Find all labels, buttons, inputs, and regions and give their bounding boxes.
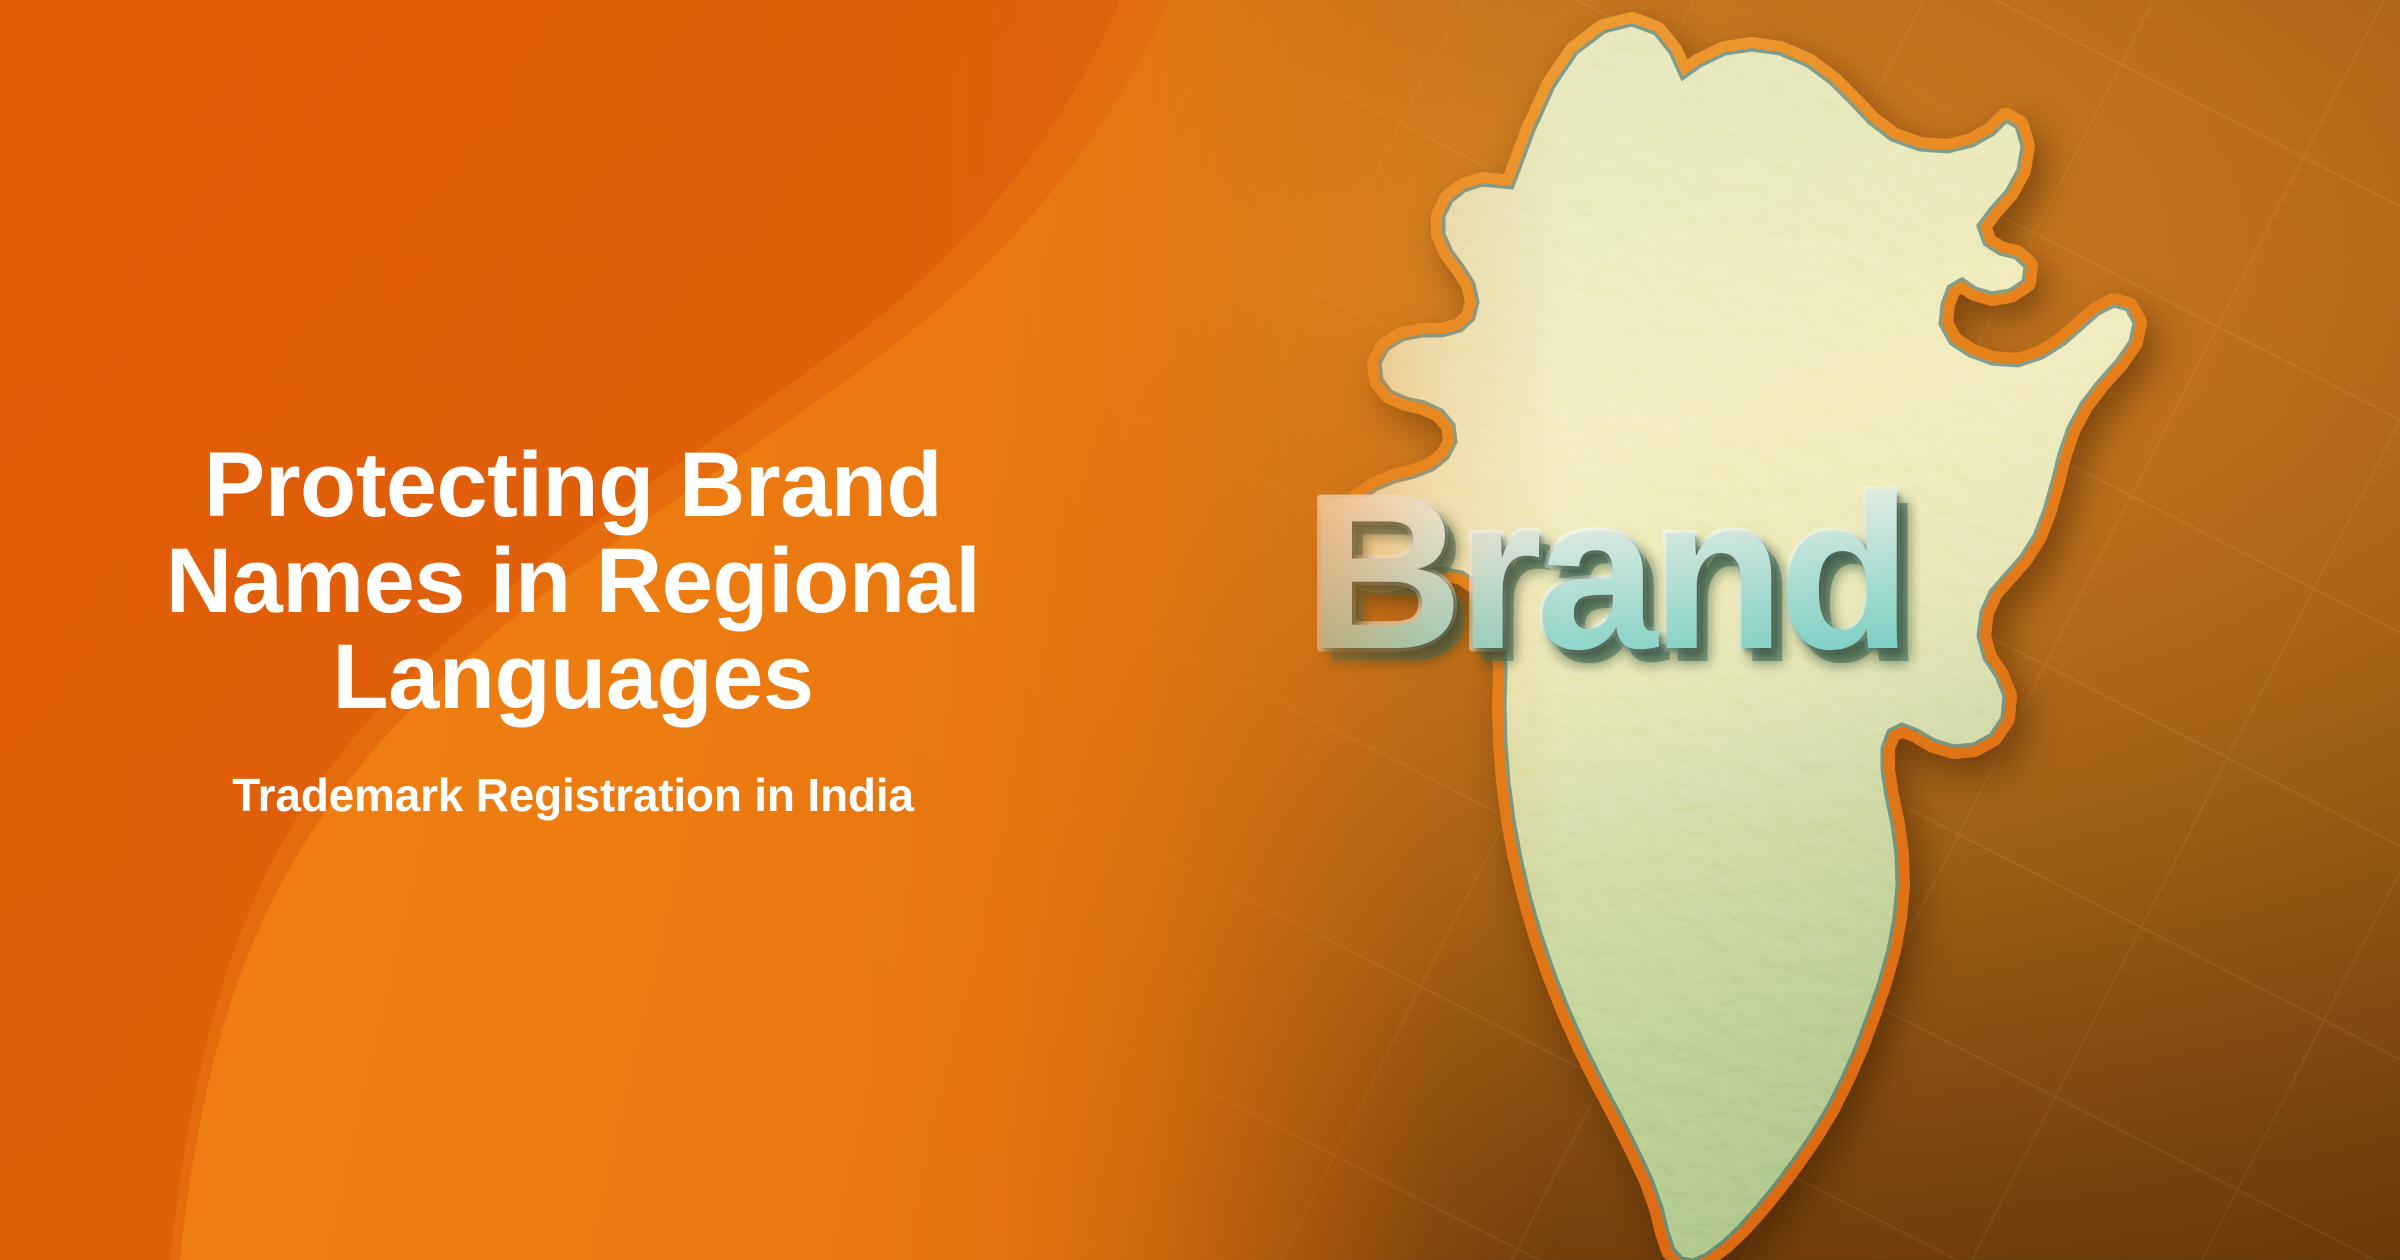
page-title: Protecting Brand Names in Regional Langu… (83, 438, 1063, 725)
india-map-graphic (1180, 0, 2310, 1260)
title-line-2: Names in Regional (166, 530, 981, 632)
india-terrain-shading (1180, 0, 2310, 1260)
banner-canvas: Brand Brand Brand (0, 0, 2400, 1260)
page-subtitle: Trademark Registration in India (232, 768, 913, 822)
title-line-3: Languages (332, 626, 813, 728)
headline-block: Protecting Brand Names in Regional Langu… (0, 0, 1130, 1260)
title-line-1: Protecting Brand (204, 434, 942, 536)
